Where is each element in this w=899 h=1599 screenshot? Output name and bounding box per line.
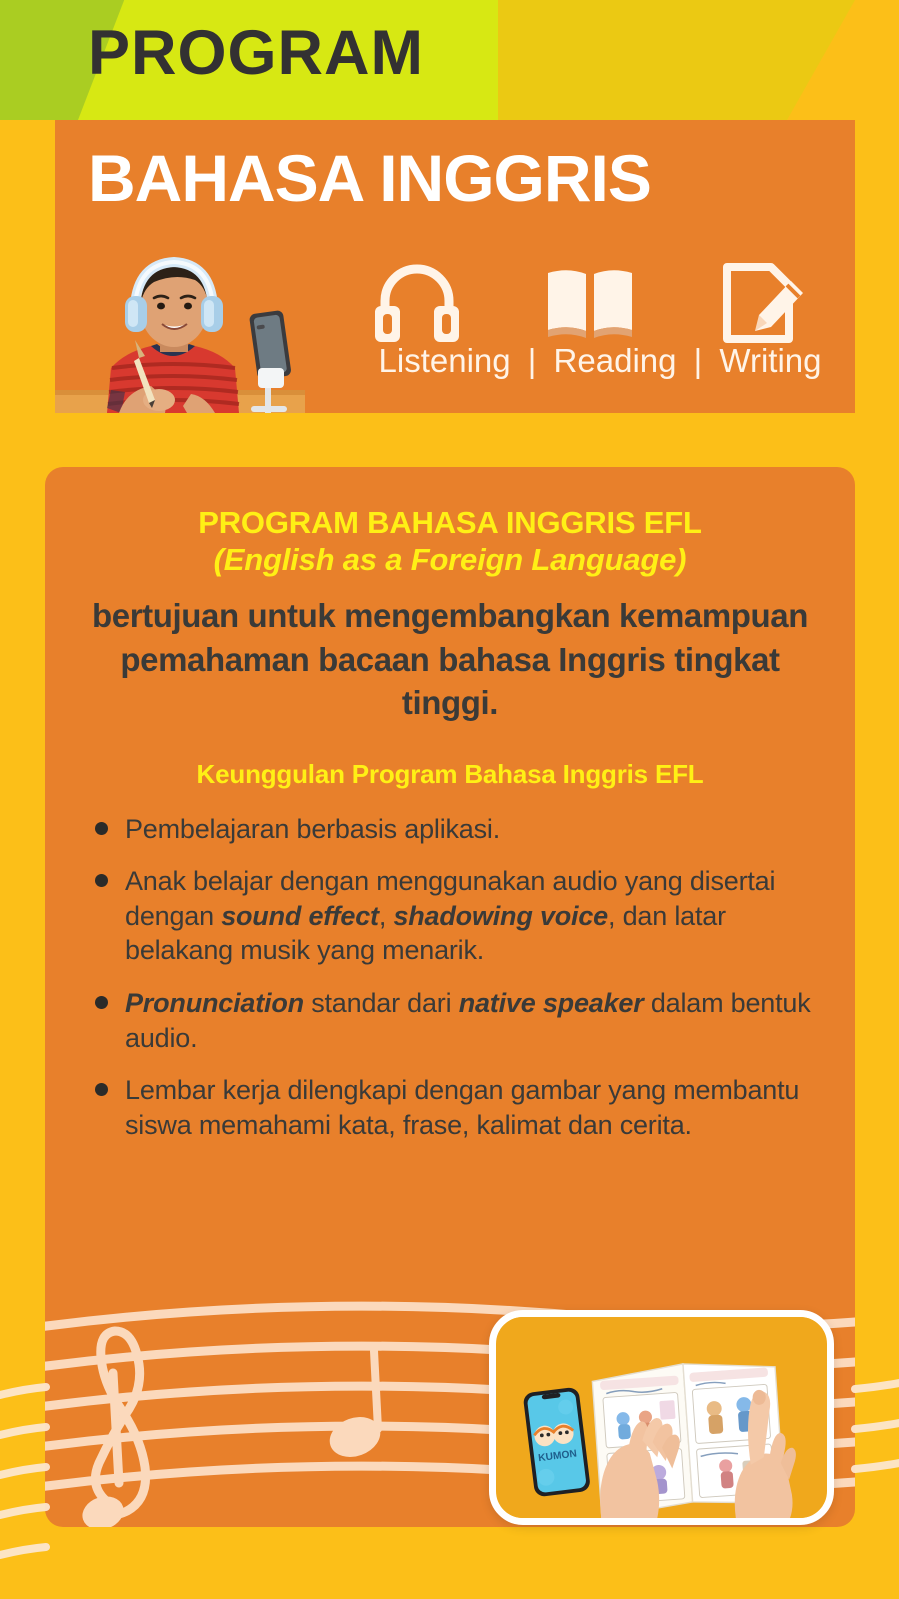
- card-heading: PROGRAM BAHASA INGGRIS EFL (English as a…: [73, 505, 827, 578]
- advantage-item: Pronunciation standar dari native speake…: [91, 986, 827, 1055]
- advantages-list: Pembelajaran berbasis aplikasi.Anak bela…: [73, 812, 827, 1142]
- document-pencil-icon: [719, 259, 807, 345]
- bullet-dot-icon: [95, 996, 108, 1009]
- banner-title: PROGRAM: [88, 22, 424, 85]
- workbook-photo-illustration: KUMON: [496, 1317, 827, 1518]
- document-pencil-icon-cell: [703, 259, 823, 345]
- open-book-icon-cell: [530, 265, 650, 345]
- headphones-icon-cell: [357, 259, 477, 345]
- card-intro-text: bertujuan untuk mengembangkan kemampuan …: [73, 594, 827, 725]
- advantage-item: Lembar kerja dilengkapi dengan gambar ya…: [91, 1073, 827, 1142]
- mode-separator-2: |: [686, 342, 711, 379]
- mode-separator-1: |: [520, 342, 545, 379]
- modes-icon-row: [330, 250, 850, 345]
- student-photo-illustration: [55, 240, 305, 413]
- card-subheading: Keunggulan Program Bahasa Inggris EFL: [73, 759, 827, 790]
- bullet-dot-icon: [95, 874, 108, 887]
- body-text: Pembelajaran berbasis aplikasi.: [125, 814, 500, 844]
- card-heading-line1: PROGRAM BAHASA INGGRIS EFL: [198, 505, 701, 540]
- body-text: Lembar kerja dilengkapi dengan gambar ya…: [125, 1075, 799, 1140]
- body-text: standar dari: [304, 988, 459, 1018]
- advantage-item: Pembelajaran berbasis aplikasi.: [91, 812, 827, 847]
- header-block: BAHASA INGGRIS: [55, 120, 855, 413]
- mode-reading-label: Reading: [554, 342, 677, 379]
- card-heading-line2: (English as a Foreign Language): [73, 542, 827, 579]
- header-title: BAHASA INGGRIS: [88, 145, 651, 211]
- emphasis-text: sound effect: [221, 901, 379, 931]
- modes-label-row: Listening | Reading | Writing: [330, 342, 870, 380]
- advantage-item: Anak belajar dengan menggunakan audio ya…: [91, 864, 827, 968]
- bullet-dot-icon: [95, 822, 108, 835]
- body-text: ,: [379, 901, 394, 931]
- student-photo: [55, 240, 305, 413]
- mode-writing-label: Writing: [719, 342, 821, 379]
- mode-listening-label: Listening: [379, 342, 511, 379]
- banner-gold-shape: [455, 0, 855, 120]
- bullet-dot-icon: [95, 1083, 108, 1096]
- card-content: PROGRAM BAHASA INGGRIS EFL (English as a…: [45, 467, 855, 1142]
- top-banner: PROGRAM: [0, 0, 899, 120]
- emphasis-text: native speaker: [459, 988, 644, 1018]
- poster-root: PROGRAM BAHASA INGGRIS: [0, 0, 899, 1599]
- headphones-icon: [371, 259, 463, 345]
- emphasis-text: Pronunciation: [125, 988, 304, 1018]
- workbook-photo-card: KUMON: [489, 1310, 834, 1525]
- emphasis-text: shadowing voice: [393, 901, 608, 931]
- open-book-icon: [542, 265, 638, 345]
